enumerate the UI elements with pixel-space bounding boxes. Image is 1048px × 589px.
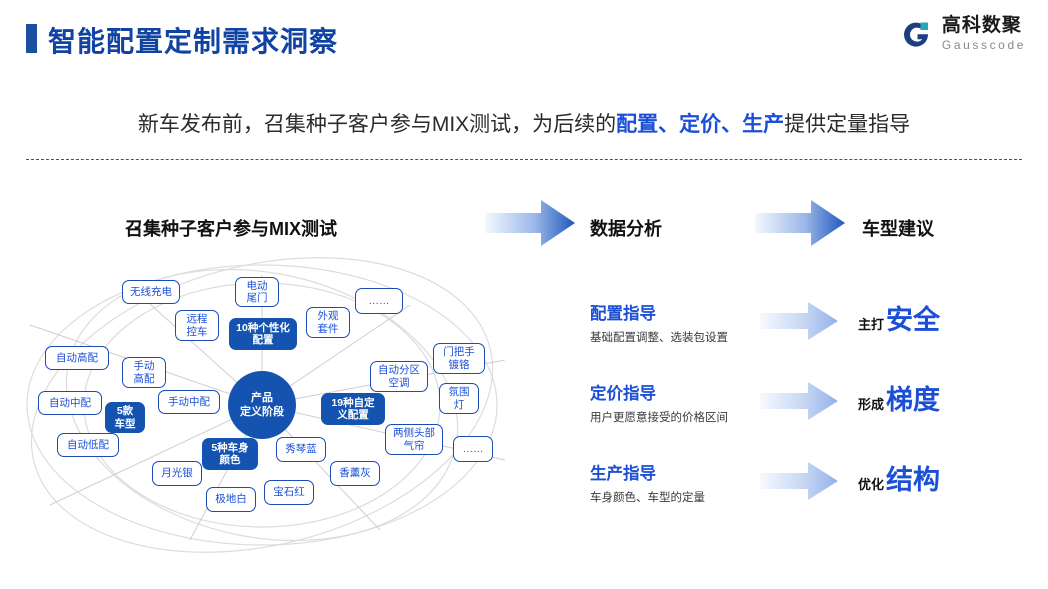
diagram-node: 极地白 — [206, 487, 256, 512]
subtitle-lead: 新车发布前，召集种子客户参与MIX测试，为后续的 — [138, 113, 616, 136]
flow-row-title: 配置指导 — [590, 300, 728, 324]
diagram-node: 无线充电 — [122, 280, 180, 304]
diagram-node: 5种车身 颜色 — [202, 438, 258, 470]
diagram-node: 自动高配 — [45, 346, 109, 370]
diagram-node: …… — [453, 436, 493, 462]
diagram-node: 19种自定 义配置 — [321, 393, 385, 425]
logo-name-cn: 高科数聚 — [942, 16, 1026, 35]
diagram-node: 月光银 — [152, 461, 202, 486]
diagram-node: 氛围 灯 — [439, 383, 479, 414]
brand-logo: 高科数聚 Gausscode — [899, 16, 1026, 51]
diagram-node: 秀琴蓝 — [276, 437, 326, 462]
logo-name-en: Gausscode — [942, 39, 1026, 51]
recommendation-item: 优化结构 — [858, 458, 940, 497]
slide-canvas: 智能配置定制需求洞察 高科数聚 Gausscode 新车发布前，召集种子客户参与… — [0, 0, 1048, 589]
column-header-analysis: 数据分析 — [590, 215, 662, 241]
diagram-node: …… — [355, 288, 403, 314]
flow-row-arrow-icon — [760, 382, 838, 425]
column-header-collect: 召集种子客户参与MIX测试 — [125, 215, 337, 241]
subtitle-highlight: 配置、定价、生产 — [616, 113, 784, 136]
diagram-node: 门把手 镀铬 — [433, 343, 485, 374]
title-accent-bar — [26, 24, 37, 53]
header-arrow-2-icon — [755, 200, 845, 251]
diagram-node: 远程 控车 — [175, 310, 219, 341]
diagram-node: 两侧头部 气帘 — [385, 424, 443, 455]
flow-row-text: 定价指导用户更愿意接受的价格区间 — [590, 380, 728, 425]
recommendation-keyword: 梯度 — [886, 378, 940, 417]
flow-row-title: 定价指导 — [590, 380, 728, 404]
header: 智能配置定制需求洞察 高科数聚 Gausscode — [0, 0, 1048, 76]
recommendation-prefix: 主打 — [858, 314, 884, 333]
diagram-node: 香薰灰 — [330, 461, 380, 486]
recommendation-item: 主打安全 — [858, 298, 940, 337]
diagram-node: 电动 尾门 — [235, 277, 279, 307]
flow-row-text: 配置指导基础配置调整、选装包设置 — [590, 300, 728, 345]
flow-row-title: 生产指导 — [590, 460, 705, 484]
product-definition-diagram: 产品 定义阶段 无线充电电动 尾门……远程 控车外观 套件10种个性化 配置自动… — [10, 255, 530, 555]
diagram-node: 外观 套件 — [306, 307, 350, 338]
recommendation-prefix: 形成 — [858, 394, 884, 413]
gausscode-logo-icon — [899, 17, 933, 51]
diagram-node: 自动中配 — [38, 391, 102, 415]
column-header-recommendation: 车型建议 — [862, 215, 934, 241]
diagram-node: 手动 高配 — [122, 357, 166, 388]
diagram-node: 宝石红 — [264, 480, 314, 505]
header-arrow-1-icon — [485, 200, 575, 251]
diagram-node: 10种个性化 配置 — [229, 318, 297, 350]
recommendation-keyword: 安全 — [886, 298, 940, 337]
flow-row-arrow-icon — [760, 462, 838, 505]
subtitle: 新车发布前，召集种子客户参与MIX测试，为后续的配置、定价、生产提供定量指导 — [0, 108, 1048, 138]
flow-row-description: 车身颜色、车型的定量 — [590, 489, 705, 505]
diagram-node: 自动分区 空调 — [370, 361, 428, 392]
subtitle-tail: 提供定量指导 — [784, 113, 910, 136]
flow-row-arrow-icon — [760, 302, 838, 345]
logo-text: 高科数聚 Gausscode — [942, 16, 1026, 51]
section-divider — [26, 159, 1022, 160]
recommendation-item: 形成梯度 — [858, 378, 940, 417]
diagram-center-node: 产品 定义阶段 — [228, 371, 296, 439]
flow-row-description: 基础配置调整、选装包设置 — [590, 329, 728, 345]
recommendation-prefix: 优化 — [858, 474, 884, 493]
diagram-node: 自动低配 — [57, 433, 119, 457]
recommendation-keyword: 结构 — [886, 458, 940, 497]
page-title: 智能配置定制需求洞察 — [48, 20, 338, 60]
diagram-node: 手动中配 — [158, 390, 220, 414]
diagram-node: 5款 车型 — [105, 402, 145, 433]
flow-row-description: 用户更愿意接受的价格区间 — [590, 409, 728, 425]
flow-row-text: 生产指导车身颜色、车型的定量 — [590, 460, 705, 505]
